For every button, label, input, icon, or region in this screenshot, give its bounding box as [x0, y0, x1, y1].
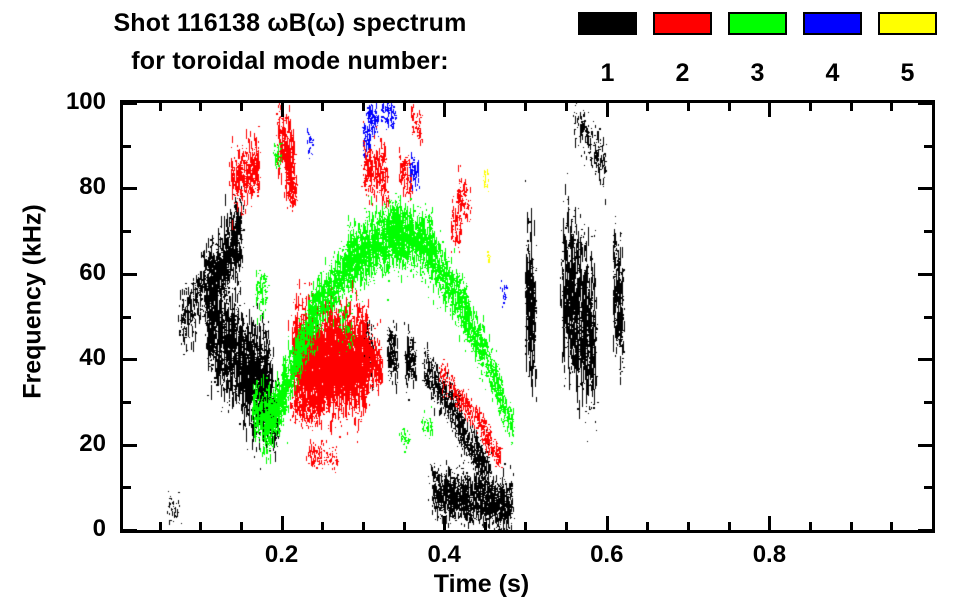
x-tick-minor	[159, 522, 162, 530]
x-tick-major	[443, 516, 446, 530]
y-tick-major	[918, 187, 932, 190]
legend-label-4: 4	[803, 58, 862, 88]
legend-swatch-1	[578, 12, 637, 35]
legend-label-1: 1	[578, 58, 637, 88]
legend: 12345	[578, 10, 963, 90]
x-tick-major	[768, 103, 771, 117]
y-tick-minor	[123, 316, 131, 319]
x-tick-major	[281, 516, 284, 530]
x-tick-label: 0.4	[399, 541, 489, 569]
y-tick-major	[123, 187, 137, 190]
x-tick-minor	[403, 522, 406, 530]
title-line-2: for toroidal mode number:	[0, 42, 580, 80]
x-tick-minor	[728, 103, 731, 111]
x-tick-minor	[565, 522, 568, 530]
x-tick-minor	[321, 103, 324, 111]
x-tick-minor	[240, 103, 243, 111]
title-line-1: Shot 116138 ωB(ω) spectrum	[0, 4, 580, 42]
x-tick-major	[281, 103, 284, 117]
x-tick-minor	[362, 522, 365, 530]
x-tick-minor	[524, 103, 527, 111]
y-tick-minor	[924, 230, 932, 233]
y-tick-major	[123, 273, 137, 276]
legend-label-2: 2	[653, 58, 712, 88]
y-axis-title: Frequency (kHz)	[19, 162, 48, 442]
y-tick-major	[918, 102, 932, 105]
legend-labels: 12345	[578, 58, 963, 90]
x-tick-minor	[890, 522, 893, 530]
x-tick-label: 0.2	[237, 541, 327, 569]
x-tick-label: 0.8	[724, 541, 814, 569]
legend-label-5: 5	[878, 58, 937, 88]
legend-swatches	[578, 10, 963, 36]
x-tick-minor	[809, 522, 812, 530]
figure-root: Shot 116138 ωB(ω) spectrum for toroidal …	[0, 0, 963, 615]
x-tick-major	[606, 103, 609, 117]
x-tick-minor	[159, 103, 162, 111]
x-tick-minor	[403, 103, 406, 111]
x-tick-minor	[850, 522, 853, 530]
y-tick-minor	[924, 486, 932, 489]
x-tick-minor	[362, 103, 365, 111]
plot-area	[120, 100, 935, 533]
y-tick-major	[918, 358, 932, 361]
x-tick-major	[443, 103, 446, 117]
y-tick-minor	[123, 145, 131, 148]
x-tick-minor	[484, 103, 487, 111]
y-tick-major	[918, 444, 932, 447]
x-tick-minor	[321, 522, 324, 530]
y-tick-label: 0	[16, 515, 106, 543]
y-tick-minor	[924, 145, 932, 148]
x-tick-minor	[565, 103, 568, 111]
x-tick-label: 0.6	[562, 541, 652, 569]
x-tick-minor	[850, 103, 853, 111]
y-tick-minor	[924, 401, 932, 404]
x-tick-minor	[809, 103, 812, 111]
x-tick-minor	[687, 522, 690, 530]
x-tick-major	[606, 516, 609, 530]
legend-swatch-4	[803, 12, 862, 35]
y-tick-major	[123, 102, 137, 105]
y-tick-major	[918, 529, 932, 532]
y-tick-minor	[123, 401, 131, 404]
legend-swatch-2	[653, 12, 712, 35]
x-tick-minor	[484, 522, 487, 530]
y-tick-minor	[924, 316, 932, 319]
x-tick-major	[768, 516, 771, 530]
x-tick-minor	[199, 522, 202, 530]
x-tick-minor	[687, 103, 690, 111]
y-tick-major	[123, 358, 137, 361]
x-tick-minor	[728, 522, 731, 530]
x-tick-minor	[524, 522, 527, 530]
y-tick-major	[123, 529, 137, 532]
y-tick-minor	[123, 230, 131, 233]
y-tick-minor	[123, 486, 131, 489]
x-axis-title: Time (s)	[0, 570, 963, 599]
y-tick-major	[123, 444, 137, 447]
chart-title: Shot 116138 ωB(ω) spectrum for toroidal …	[0, 4, 580, 80]
x-tick-minor	[646, 522, 649, 530]
legend-swatch-5	[878, 12, 937, 35]
x-tick-minor	[199, 103, 202, 111]
legend-label-3: 3	[728, 58, 787, 88]
x-tick-minor	[890, 103, 893, 111]
x-tick-minor	[240, 522, 243, 530]
spectrogram-canvas	[123, 103, 932, 530]
legend-swatch-3	[728, 12, 787, 35]
y-tick-label: 100	[16, 88, 106, 116]
y-tick-major	[918, 273, 932, 276]
x-tick-minor	[646, 103, 649, 111]
